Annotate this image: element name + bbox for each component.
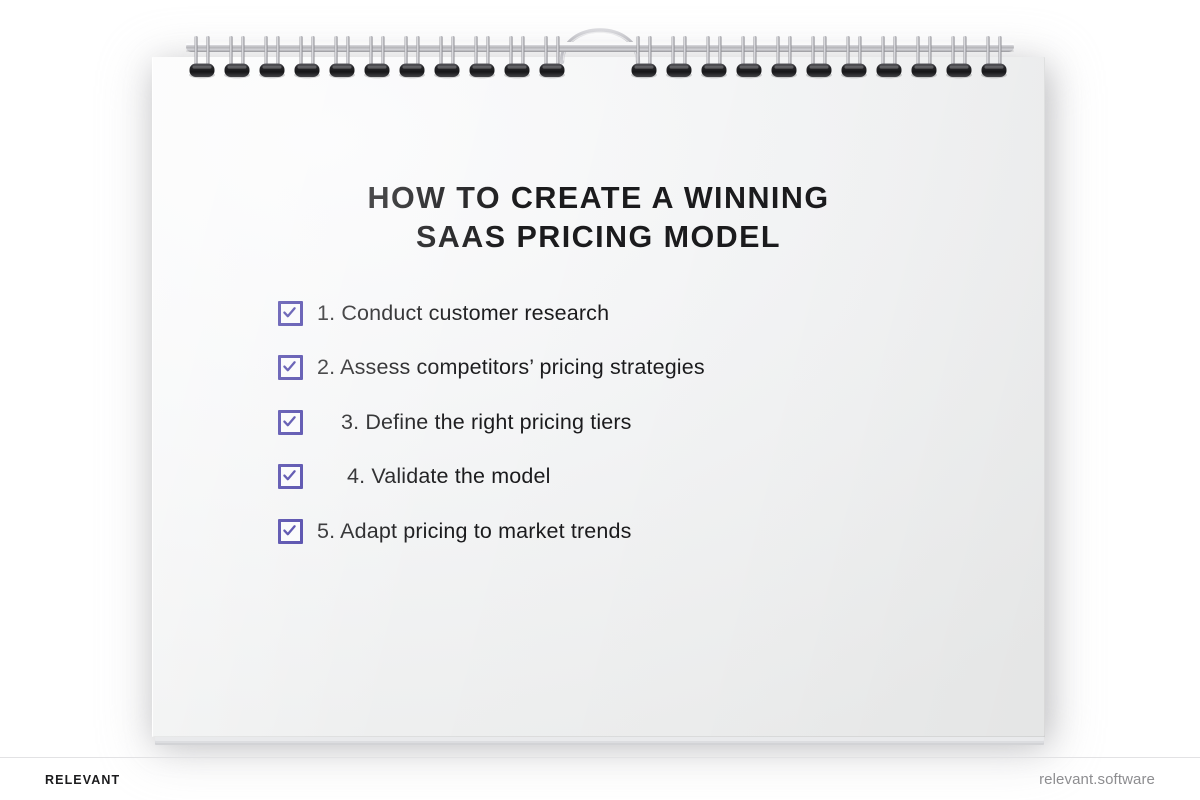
checklist: 1. Conduct customer research 2. Assess c…	[278, 293, 978, 551]
checklist-item-1[interactable]: 1. Conduct customer research	[278, 293, 978, 333]
checkbox-2[interactable]	[278, 355, 303, 380]
check-icon	[282, 305, 297, 320]
checklist-item-2[interactable]: 2. Assess competitors’ pricing strategie…	[278, 348, 978, 388]
brand-wordmark: RELEVANT	[45, 773, 120, 787]
checklist-item-4[interactable]: 4. Validate the model	[278, 457, 978, 497]
checkbox-5[interactable]	[278, 519, 303, 544]
page-content: HOW TO CREATE A WINNING SAAS PRICING MOD…	[152, 57, 1045, 737]
footer: RELEVANT relevant.software	[0, 757, 1200, 800]
checkbox-3[interactable]	[278, 410, 303, 435]
checklist-item-1-label: 1. Conduct customer research	[317, 301, 609, 326]
title-line-2: SAAS PRICING MODEL	[152, 218, 1045, 257]
title-line-1: HOW TO CREATE A WINNING	[152, 179, 1045, 218]
binding-bar	[186, 42, 1014, 52]
page-title: HOW TO CREATE A WINNING SAAS PRICING MOD…	[152, 179, 1045, 257]
footer-divider	[0, 757, 1200, 758]
checklist-item-3[interactable]: 3. Define the right pricing tiers	[278, 402, 978, 442]
checklist-item-4-label: 4. Validate the model	[317, 464, 551, 489]
checklist-item-3-label: 3. Define the right pricing tiers	[317, 410, 632, 435]
checkbox-1[interactable]	[278, 301, 303, 326]
poster-canvas: HOW TO CREATE A WINNING SAAS PRICING MOD…	[0, 0, 1200, 800]
site-url[interactable]: relevant.software	[1039, 771, 1155, 788]
check-icon	[282, 359, 297, 374]
checkbox-4[interactable]	[278, 464, 303, 489]
checklist-item-5[interactable]: 5. Adapt pricing to market trends	[278, 511, 978, 551]
check-icon	[282, 468, 297, 483]
check-icon	[282, 523, 297, 538]
front-page: HOW TO CREATE A WINNING SAAS PRICING MOD…	[152, 57, 1045, 737]
checklist-item-2-label: 2. Assess competitors’ pricing strategie…	[317, 355, 705, 380]
checklist-item-5-label: 5. Adapt pricing to market trends	[317, 519, 631, 544]
flipchart-notepad: HOW TO CREATE A WINNING SAAS PRICING MOD…	[152, 57, 1045, 737]
check-icon	[282, 414, 297, 429]
